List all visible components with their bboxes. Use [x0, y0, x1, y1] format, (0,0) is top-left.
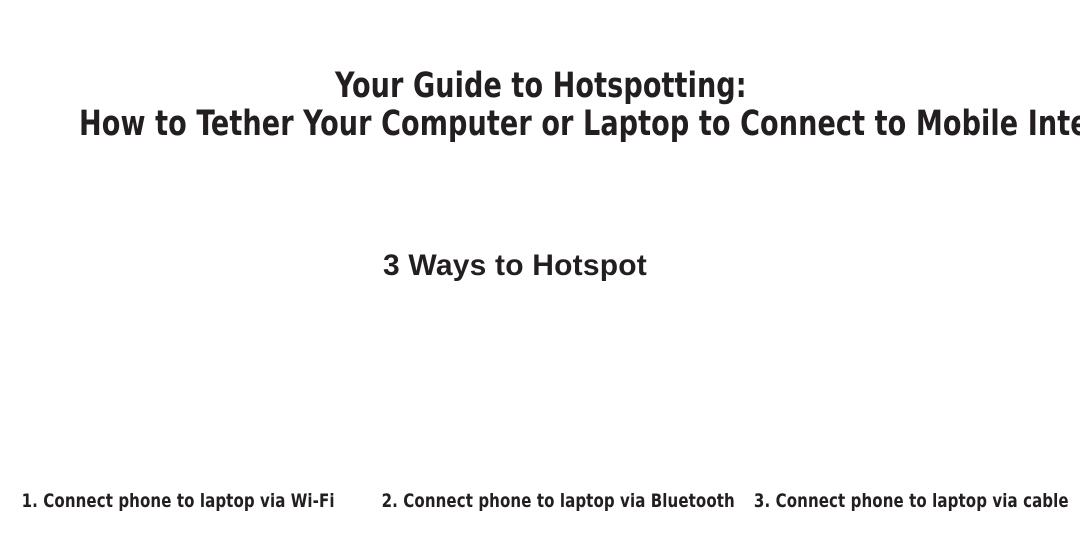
illustration-band: [0, 278, 1080, 476]
illustration-slot-bluetooth: [360, 278, 720, 476]
illustration-slot-cable: [720, 278, 1080, 476]
illustration-slot-wifi: [0, 278, 360, 476]
page-title: Your Guide to Hotspotting: How to Tether…: [76, 67, 1005, 143]
step-caption-row: 1. Connect phone to laptop via Wi-Fi 2. …: [0, 488, 1080, 518]
step-caption-bluetooth: 2. Connect phone to laptop via Bluetooth: [382, 488, 699, 514]
step-caption-wifi: 1. Connect phone to laptop via Wi-Fi: [22, 488, 339, 514]
page-title-line-1: Your Guide to Hotspotting:: [77, 67, 1004, 105]
page-title-line-2: How to Tether Your Computer or Laptop to…: [79, 105, 1004, 143]
step-caption-cable: 3. Connect phone to laptop via cable: [742, 488, 1059, 514]
infographic-canvas: Your Guide to Hotspotting: How to Tether…: [0, 0, 1080, 552]
